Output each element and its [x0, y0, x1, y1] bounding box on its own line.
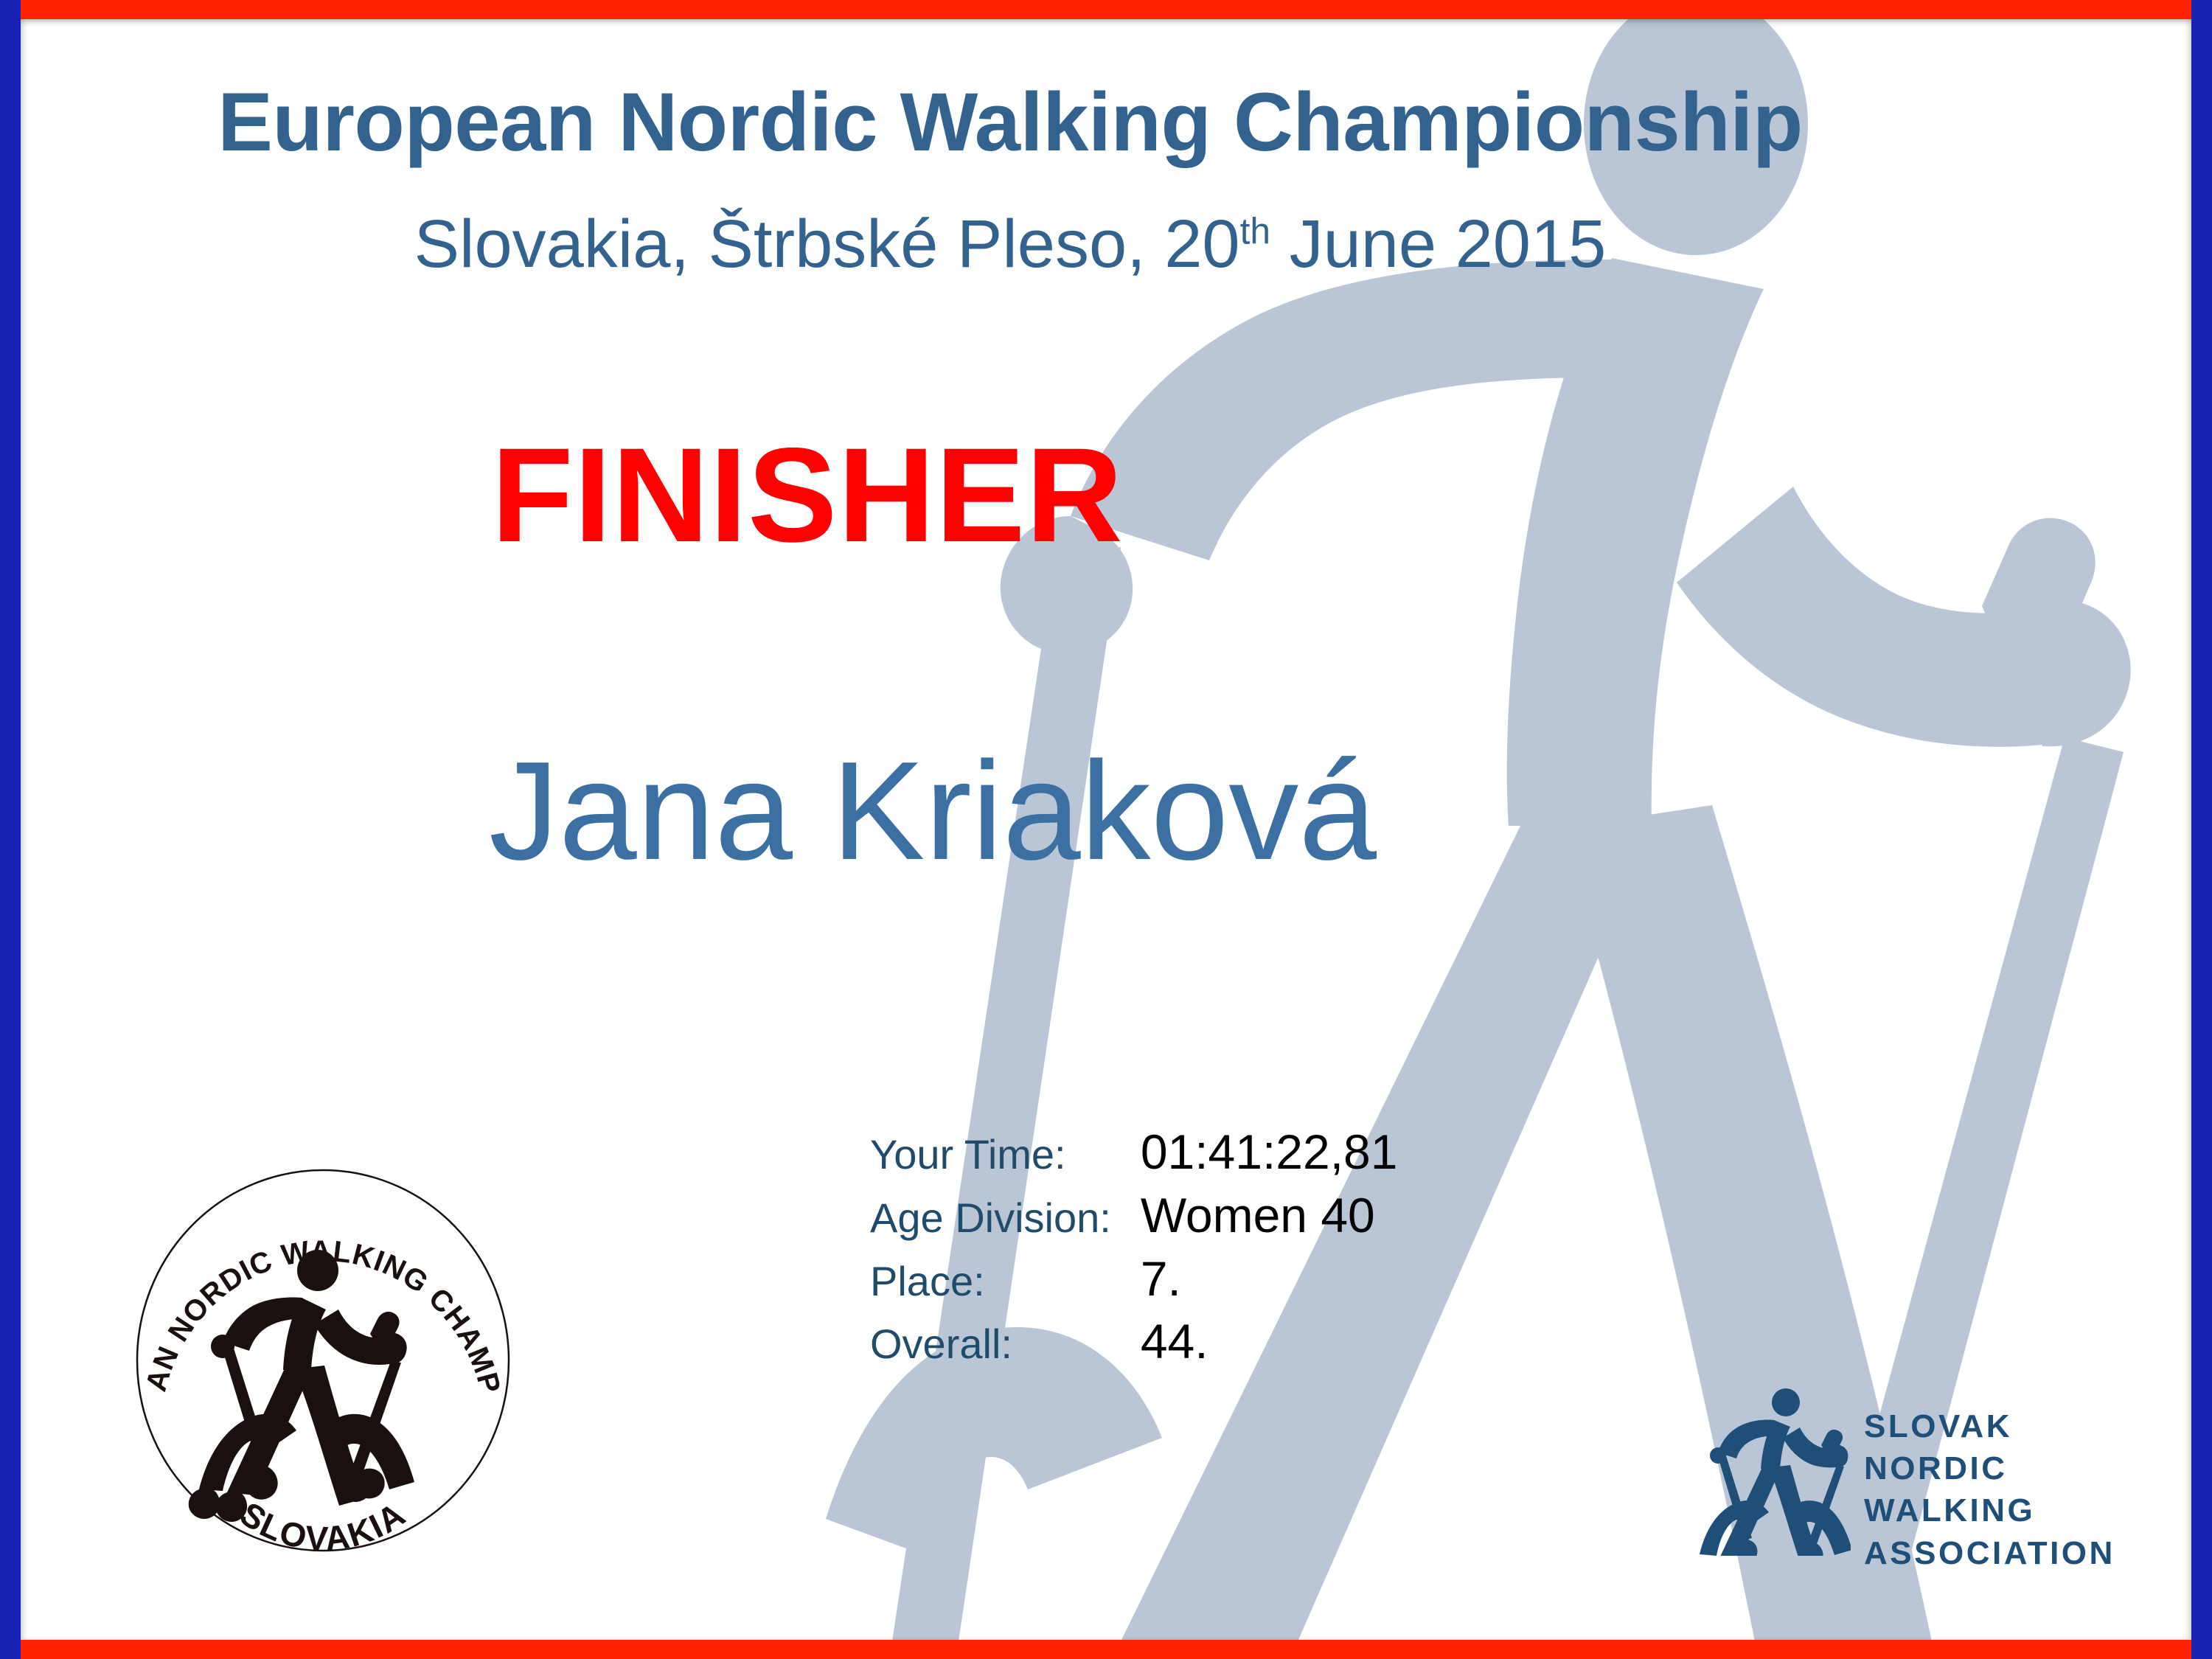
event-subtitle: Slovakia, Štrbské Pleso, 20th June 2015 [0, 210, 2020, 278]
result-label-age-division: Age Division: [870, 1184, 1141, 1248]
results-table: Your Time: 01:41:22,81 Age Division: Wom… [870, 1121, 1397, 1374]
finisher-status: FINISHER [0, 428, 1615, 562]
snwa-walker-icon [1696, 1386, 1851, 1556]
athlete-name: Jana Kriaková [0, 741, 1865, 881]
snwa-line-1: SLOVAK [1864, 1405, 2138, 1447]
border-bottom [0, 1640, 2212, 1659]
snwa-logo: SLOVAK NORDIC WALKING ASSOCIATION [1696, 1386, 2138, 1571]
snwa-logo-text: SLOVAK NORDIC WALKING ASSOCIATION [1864, 1405, 2138, 1574]
result-value-age-division: Women 40 [1141, 1184, 1398, 1248]
border-top [0, 0, 2212, 19]
border-left [0, 0, 21, 1659]
result-value-place: 7. [1141, 1248, 1398, 1311]
result-label-place: Place: [870, 1248, 1141, 1311]
table-row: Overall: 44. [870, 1310, 1397, 1374]
snwa-line-2: NORDIC WALKING [1864, 1447, 2138, 1531]
table-row: Age Division: Women 40 [870, 1184, 1397, 1248]
ordinal-suffix: th [1240, 210, 1270, 251]
result-value-your-time: 01:41:22,81 [1141, 1121, 1398, 1184]
event-title: European Nordic Walking Championship [0, 81, 2020, 164]
result-label-overall: Overall: [870, 1310, 1141, 1374]
certificate-page: European Nordic Walking Championship Slo… [0, 0, 2212, 1659]
result-label-your-time: Your Time: [870, 1121, 1141, 1184]
table-row: Your Time: 01:41:22,81 [870, 1121, 1397, 1184]
event-location-date: Slovakia, Štrbské Pleso, 20 [414, 206, 1240, 282]
snwa-line-3: ASSOCIATION [1864, 1532, 2138, 1574]
border-right [2191, 0, 2212, 1659]
enwc-circular-logo: EUROPEAN NORDIC WALKING CHAMPIONSHIP SLO… [131, 1165, 515, 1556]
result-value-overall: 44. [1141, 1310, 1398, 1374]
event-date-rest: June 2015 [1270, 206, 1606, 282]
table-row: Place: 7. [870, 1248, 1397, 1311]
